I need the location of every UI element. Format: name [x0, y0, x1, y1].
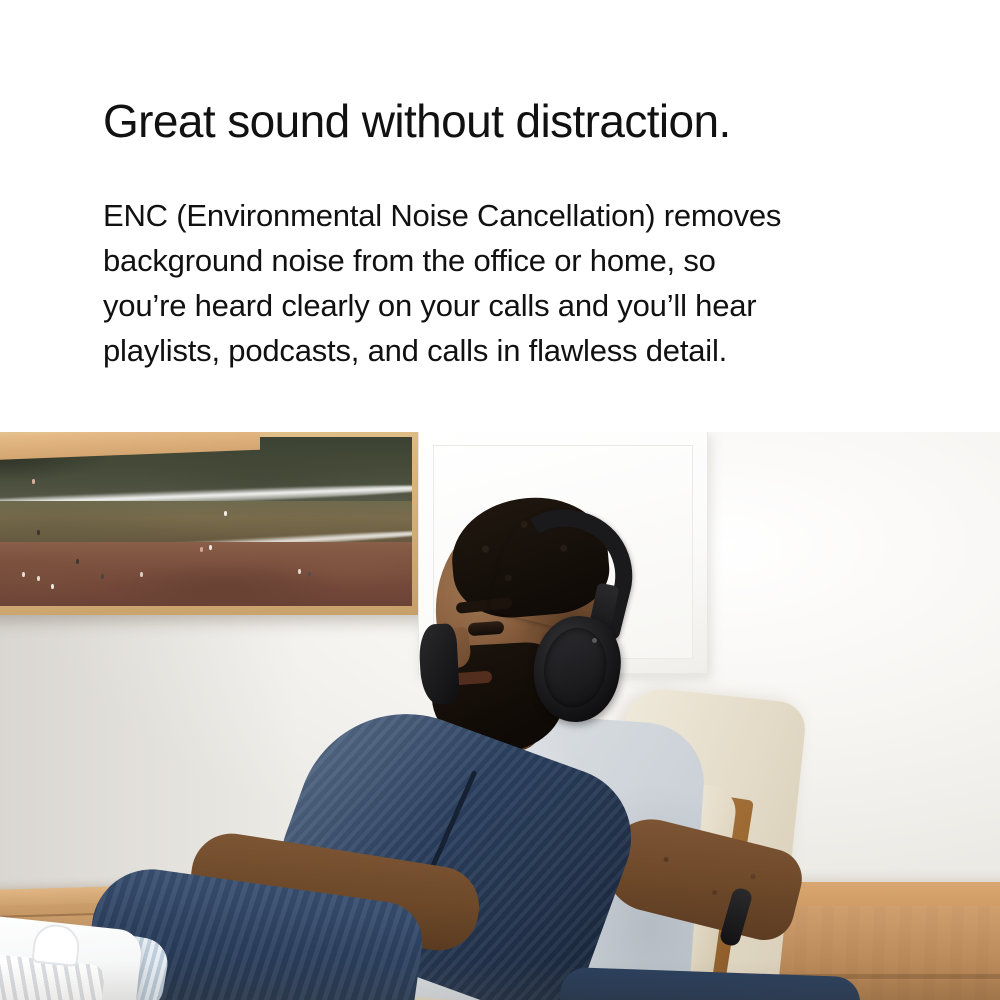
page-title: Great sound without distraction.: [103, 98, 731, 144]
floor-shadow: [0, 960, 1000, 1000]
copy-block: Great sound without distraction. ENC (En…: [0, 0, 1000, 432]
body-line-1: ENC (Environmental Noise Cancellation) r…: [103, 193, 933, 238]
body-line-3: you’re heard clearly on your calls and y…: [103, 283, 933, 328]
body-paragraph: ENC (Environmental Noise Cancellation) r…: [103, 193, 933, 373]
body-line-2: background noise from the office or home…: [103, 238, 933, 283]
lifestyle-photo: [0, 432, 1000, 1000]
product-feature-section: Great sound without distraction. ENC (En…: [0, 0, 1000, 1000]
framed-artwork-wood: [0, 432, 420, 615]
artwork-image-aerial-beach: [0, 437, 412, 606]
headphones-earcup-pad: [538, 623, 612, 712]
man-eye: [468, 621, 505, 636]
body-line-4: playlists, podcasts, and calls in flawle…: [103, 328, 933, 373]
artwork-beachgoers: [0, 437, 412, 606]
headphones-button-dot: [592, 638, 597, 643]
